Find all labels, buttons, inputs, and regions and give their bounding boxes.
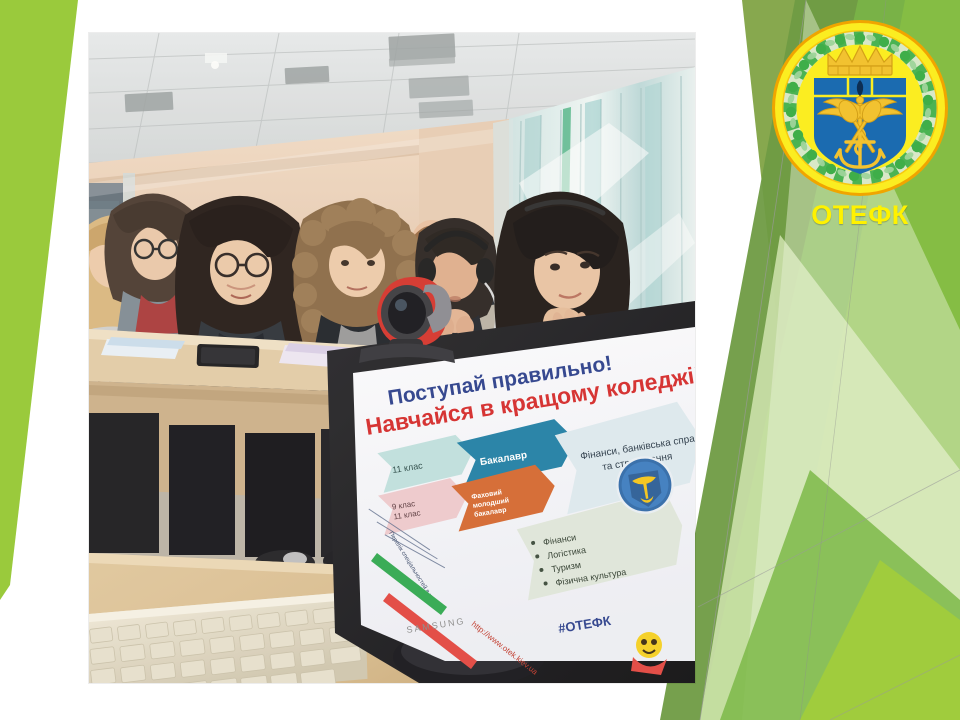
otefk-caption: ОТЕФК xyxy=(770,198,950,232)
classroom-photo: EL AN xyxy=(89,33,695,683)
otefk-branding: ОТЕФК xyxy=(770,18,956,240)
presentation-slide: EL AN xyxy=(0,0,960,720)
otefk-coat-of-arms-icon xyxy=(770,18,950,198)
